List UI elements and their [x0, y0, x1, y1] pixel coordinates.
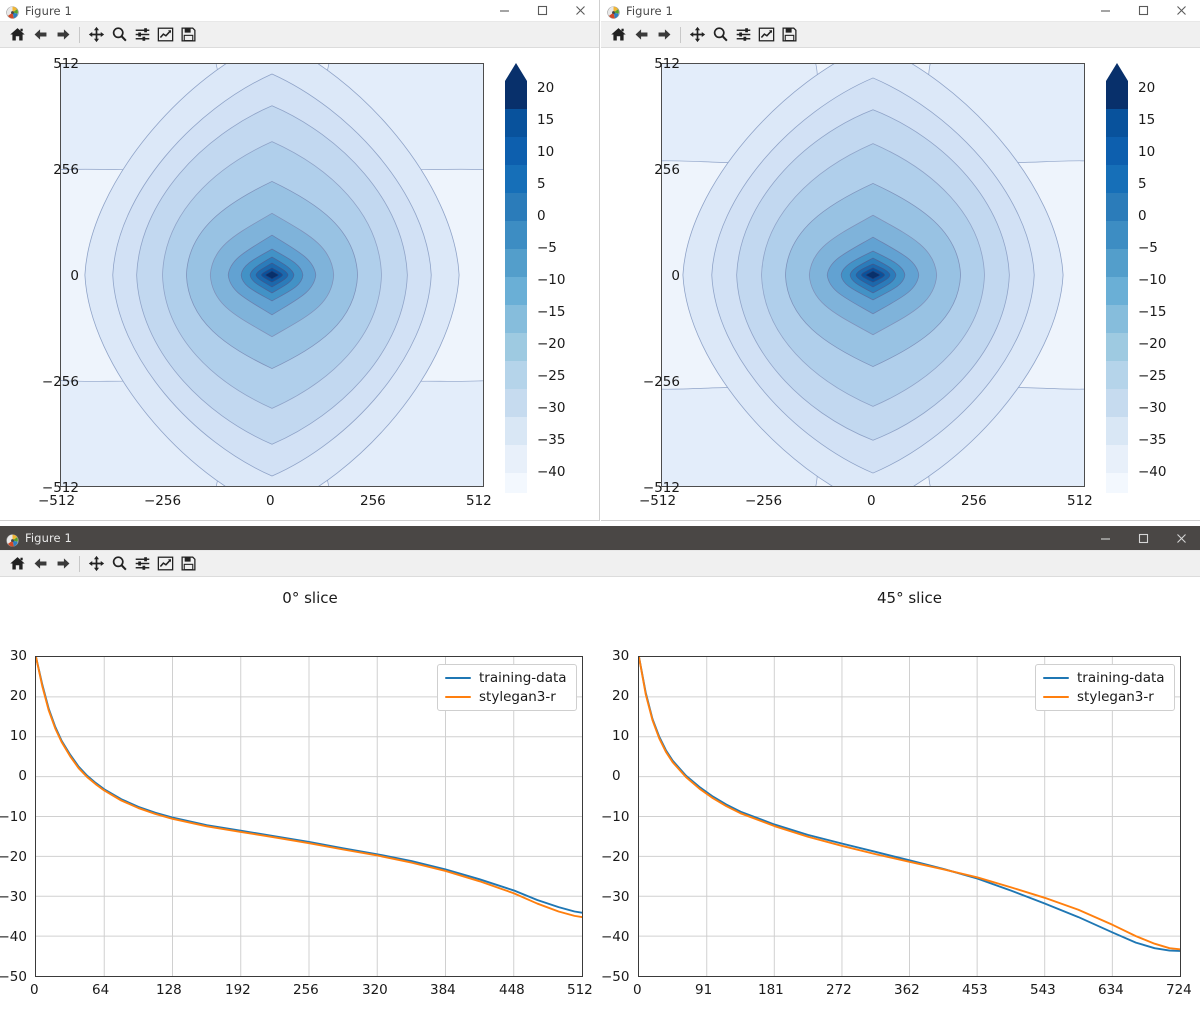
y-tick-label: −10: [0, 809, 27, 825]
y-tick-label: 20: [10, 688, 27, 704]
colorbar-tick-label: −10: [1138, 272, 1167, 288]
titlebar-bottom[interactable]: Figure 1: [0, 526, 1200, 551]
figure-canvas-bottom: 0° slice: [0, 577, 1200, 1032]
legend-45deg[interactable]: training-data stylegan3-r: [1035, 664, 1175, 711]
zoom-magnifier-icon[interactable]: [709, 24, 731, 46]
toolbar-top-left[interactable]: [0, 22, 599, 48]
colorbar-tick-label: −5: [1138, 240, 1158, 256]
window-title: Figure 1: [25, 4, 72, 18]
legend-label: training-data: [1077, 670, 1165, 686]
window-figure-bottom[interactable]: Figure 1: [0, 526, 1200, 1033]
plot-title-45deg: 45° slice: [638, 589, 1181, 607]
legend-item: stylegan3-r: [445, 689, 567, 705]
close-icon[interactable]: [1162, 526, 1200, 550]
window-figure-top-left[interactable]: Figure 1: [0, 0, 600, 521]
colorbar-tick-label: 0: [1138, 208, 1147, 224]
save-floppy-icon[interactable]: [177, 24, 199, 46]
legend-label: stylegan3-r: [479, 689, 556, 705]
toolbar-bottom[interactable]: [0, 551, 1200, 577]
back-arrow-icon[interactable]: [29, 24, 51, 46]
x-tick-label: 384: [430, 982, 456, 998]
legend-item: training-data: [445, 670, 567, 686]
forward-arrow-icon[interactable]: [52, 553, 74, 575]
maximize-icon[interactable]: [1124, 0, 1162, 21]
colorbar-tick-label: 20: [537, 80, 554, 96]
contour-field: [61, 64, 483, 486]
colorbar-tick-label: 15: [1138, 112, 1155, 128]
configure-subplots-icon[interactable]: [131, 553, 153, 575]
y-tick-label: 512: [654, 56, 680, 72]
edit-axis-icon[interactable]: [755, 24, 777, 46]
x-tick-label: 0: [633, 982, 642, 998]
x-tick-label: 192: [225, 982, 251, 998]
toolbar-separator: [680, 27, 681, 43]
y-tick-label: −20: [0, 849, 27, 865]
x-tick-label: 0: [266, 493, 275, 509]
y-tick-label: −256: [42, 374, 79, 390]
colorbar-tick-label: −25: [1138, 368, 1167, 384]
legend-0deg[interactable]: training-data stylegan3-r: [437, 664, 577, 711]
pan-move-icon[interactable]: [85, 24, 107, 46]
close-icon[interactable]: [561, 0, 599, 21]
y-tick-label: 0: [612, 768, 621, 784]
y-tick-label: −10: [601, 809, 630, 825]
forward-arrow-icon[interactable]: [653, 24, 675, 46]
x-tick-label: 181: [758, 982, 784, 998]
matplotlib-icon: [6, 532, 19, 545]
close-icon[interactable]: [1162, 0, 1200, 21]
colorbar-tick-label: 15: [537, 112, 554, 128]
colorbar-training[interactable]: [505, 63, 527, 518]
toolbar-separator: [79, 27, 80, 43]
legend-swatch-training-data: [445, 677, 471, 679]
x-tick-label: −512: [639, 493, 676, 509]
forward-arrow-icon[interactable]: [52, 24, 74, 46]
y-tick-label: −40: [601, 929, 630, 945]
x-tick-label: 448: [499, 982, 525, 998]
minimize-icon[interactable]: [1086, 526, 1124, 550]
y-tick-label: 0: [18, 768, 27, 784]
x-tick-label: 64: [92, 982, 109, 998]
y-tick-label: −30: [601, 889, 630, 905]
y-tick-label: 256: [654, 162, 680, 178]
figure-canvas-top-right: 512 256 0 −256 −512 −512 −256 0 256 512: [601, 48, 1200, 521]
titlebar-top-right[interactable]: Figure 1: [601, 0, 1200, 22]
y-tick-label: −40: [0, 929, 27, 945]
x-tick-label: 91: [695, 982, 712, 998]
zoom-magnifier-icon[interactable]: [108, 553, 130, 575]
x-tick-label: 0: [30, 982, 39, 998]
legend-label: training-data: [479, 670, 567, 686]
colorbar-tick-label: −20: [1138, 336, 1167, 352]
window-figure-top-right[interactable]: Figure 1: [601, 0, 1200, 521]
legend-item: stylegan3-r: [1043, 689, 1165, 705]
colorbar-tick-label: −15: [537, 304, 566, 320]
titlebar-top-left[interactable]: Figure 1: [0, 0, 599, 22]
legend-swatch-training-data: [1043, 677, 1069, 679]
home-icon[interactable]: [6, 553, 28, 575]
colorbar-tick-label: −15: [1138, 304, 1167, 320]
y-tick-label: 10: [612, 728, 629, 744]
matplotlib-icon: [6, 4, 19, 17]
y-tick-label: 512: [53, 56, 79, 72]
x-tick-label: 256: [961, 493, 987, 509]
colorbar-tick-label: −25: [537, 368, 566, 384]
x-tick-label: 256: [293, 982, 319, 998]
x-tick-label: 0: [867, 493, 876, 509]
contour-axes-stylegan[interactable]: [661, 63, 1085, 487]
x-tick-label: 543: [1030, 982, 1056, 998]
contour-axes-training[interactable]: [60, 63, 484, 487]
x-tick-label: 362: [894, 982, 920, 998]
configure-subplots-icon[interactable]: [131, 24, 153, 46]
colorbar-tick-label: −35: [537, 432, 566, 448]
x-tick-label: −256: [144, 493, 181, 509]
colorbar-tick-label: 10: [1138, 144, 1155, 160]
y-tick-label: −50: [0, 969, 27, 985]
maximize-icon[interactable]: [1124, 526, 1162, 550]
colorbar-stylegan[interactable]: [1106, 63, 1128, 518]
edit-axis-icon[interactable]: [154, 24, 176, 46]
edit-axis-icon[interactable]: [154, 553, 176, 575]
pan-move-icon[interactable]: [686, 24, 708, 46]
minimize-icon[interactable]: [1086, 0, 1124, 21]
colorbar-tick-label: 5: [537, 176, 546, 192]
window-title: Figure 1: [25, 531, 72, 545]
y-tick-label: −50: [601, 969, 630, 985]
colorbar-tick-label: 20: [1138, 80, 1155, 96]
y-tick-label: 0: [70, 268, 79, 284]
colorbar-tick-label: −10: [537, 272, 566, 288]
home-icon[interactable]: [607, 24, 629, 46]
legend-swatch-stylegan3-r: [445, 696, 471, 698]
legend-label: stylegan3-r: [1077, 689, 1154, 705]
colorbar-tick-label: −40: [1138, 464, 1167, 480]
x-tick-label: 512: [1067, 493, 1093, 509]
pan-move-icon[interactable]: [85, 553, 107, 575]
x-tick-label: 453: [962, 982, 988, 998]
save-floppy-icon[interactable]: [778, 24, 800, 46]
colorbar-tick-label: −35: [1138, 432, 1167, 448]
configure-subplots-icon[interactable]: [732, 24, 754, 46]
colorbar-tick-label: 5: [1138, 176, 1147, 192]
x-tick-label: 724: [1166, 982, 1192, 998]
zoom-magnifier-icon[interactable]: [108, 24, 130, 46]
y-tick-label: −20: [601, 849, 630, 865]
x-tick-label: 128: [156, 982, 182, 998]
colorbar-tick-label: −40: [537, 464, 566, 480]
maximize-icon[interactable]: [523, 0, 561, 21]
back-arrow-icon[interactable]: [630, 24, 652, 46]
plot-title-0deg: 0° slice: [35, 589, 585, 607]
matplotlib-icon: [607, 4, 620, 17]
y-tick-label: −30: [0, 889, 27, 905]
legend-swatch-stylegan3-r: [1043, 696, 1069, 698]
y-tick-label: 0: [671, 268, 680, 284]
y-tick-label: 10: [10, 728, 27, 744]
save-floppy-icon[interactable]: [177, 553, 199, 575]
x-tick-label: 256: [360, 493, 386, 509]
desktop: Figure 1: [0, 0, 1200, 1033]
colorbar-tick-label: −30: [537, 400, 566, 416]
x-tick-label: 512: [466, 493, 492, 509]
colorbar-tick-label: 0: [537, 208, 546, 224]
minimize-icon[interactable]: [485, 0, 523, 21]
colorbar-tick-label: −5: [537, 240, 557, 256]
y-tick-label: 30: [612, 648, 629, 664]
toolbar-top-right[interactable]: [601, 22, 1200, 48]
x-tick-label: 634: [1098, 982, 1124, 998]
home-icon[interactable]: [6, 24, 28, 46]
y-tick-label: 20: [612, 688, 629, 704]
x-tick-label: 320: [362, 982, 388, 998]
window-title: Figure 1: [626, 4, 673, 18]
colorbar-tick-label: −30: [1138, 400, 1167, 416]
colorbar-tick-label: 10: [537, 144, 554, 160]
back-arrow-icon[interactable]: [29, 553, 51, 575]
y-tick-label: 30: [10, 648, 27, 664]
legend-item: training-data: [1043, 670, 1165, 686]
y-tick-label: −256: [643, 374, 680, 390]
colorbar-tick-label: −20: [537, 336, 566, 352]
y-tick-label: 256: [53, 162, 79, 178]
x-tick-label: −256: [745, 493, 782, 509]
x-tick-label: −512: [38, 493, 75, 509]
contour-field: [662, 64, 1084, 486]
x-tick-label: 512: [567, 982, 593, 998]
figure-canvas-top-left: 512 256 0 −256 −512 −512 −256 0 256 512: [0, 48, 599, 521]
toolbar-separator: [79, 556, 80, 572]
x-tick-label: 272: [826, 982, 852, 998]
